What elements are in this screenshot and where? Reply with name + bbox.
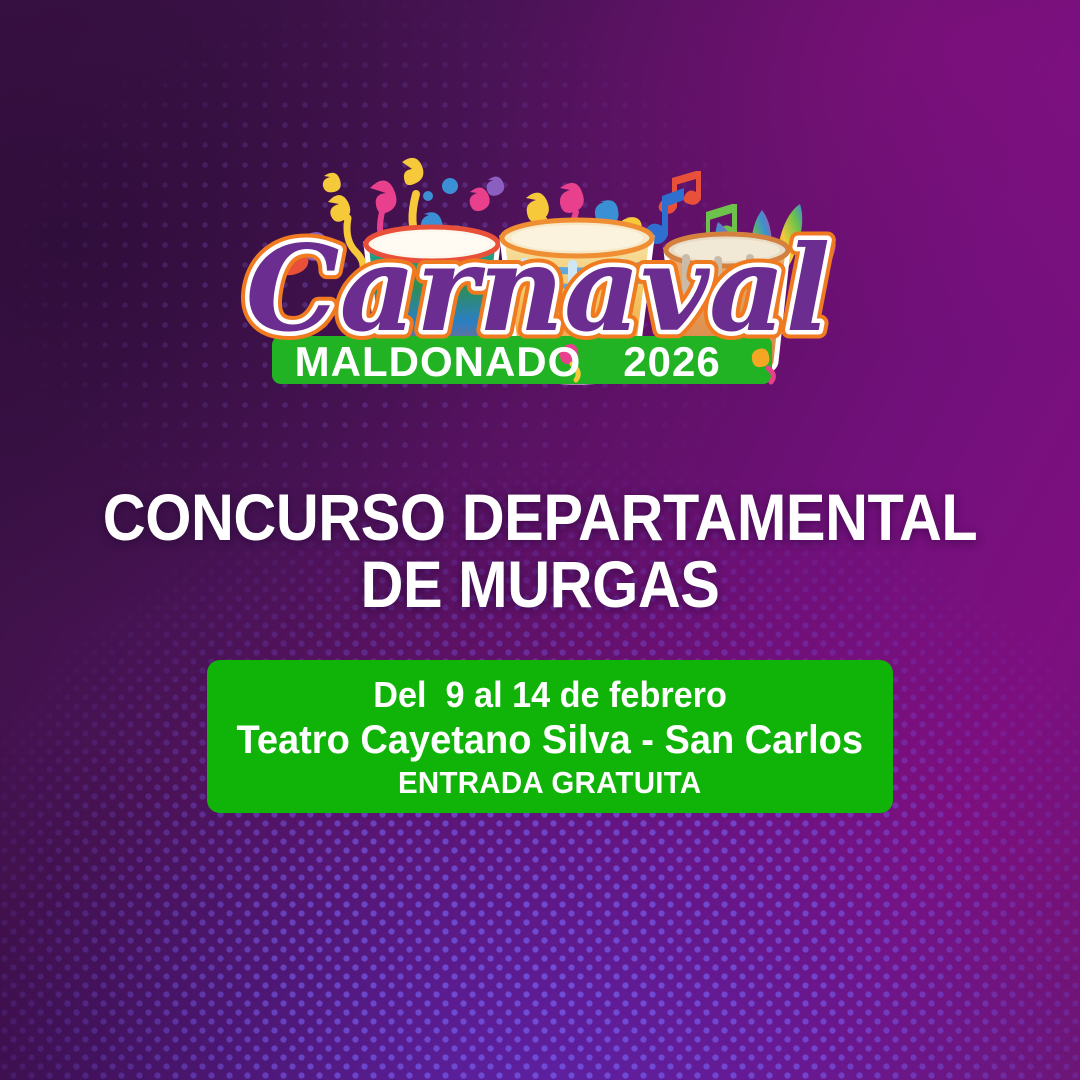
page-title: CONCURSO DEPARTAMENTAL DE MURGAS [54,484,1026,619]
banner-city-text: MALDONADO [295,338,582,385]
headline-line-2: DE MURGAS [54,551,1026,618]
event-info-panel: Del 9 al 14 de febrero Teatro Cayetano S… [207,660,893,813]
carnival-poster: Carnaval Carnaval Carnaval MALDONADO 202… [0,0,1080,1080]
event-venue: Teatro Cayetano Silva - San Carlos [237,717,864,764]
event-admission: ENTRADA GRATUITA [398,764,701,802]
banner-year-text: 2026 [623,338,720,385]
event-dates: Del 9 al 14 de febrero [373,673,727,716]
headline-line-1: CONCURSO DEPARTAMENTAL [54,484,1026,551]
carnaval-maldonado-logo: Carnaval Carnaval Carnaval MALDONADO 202… [220,140,860,400]
